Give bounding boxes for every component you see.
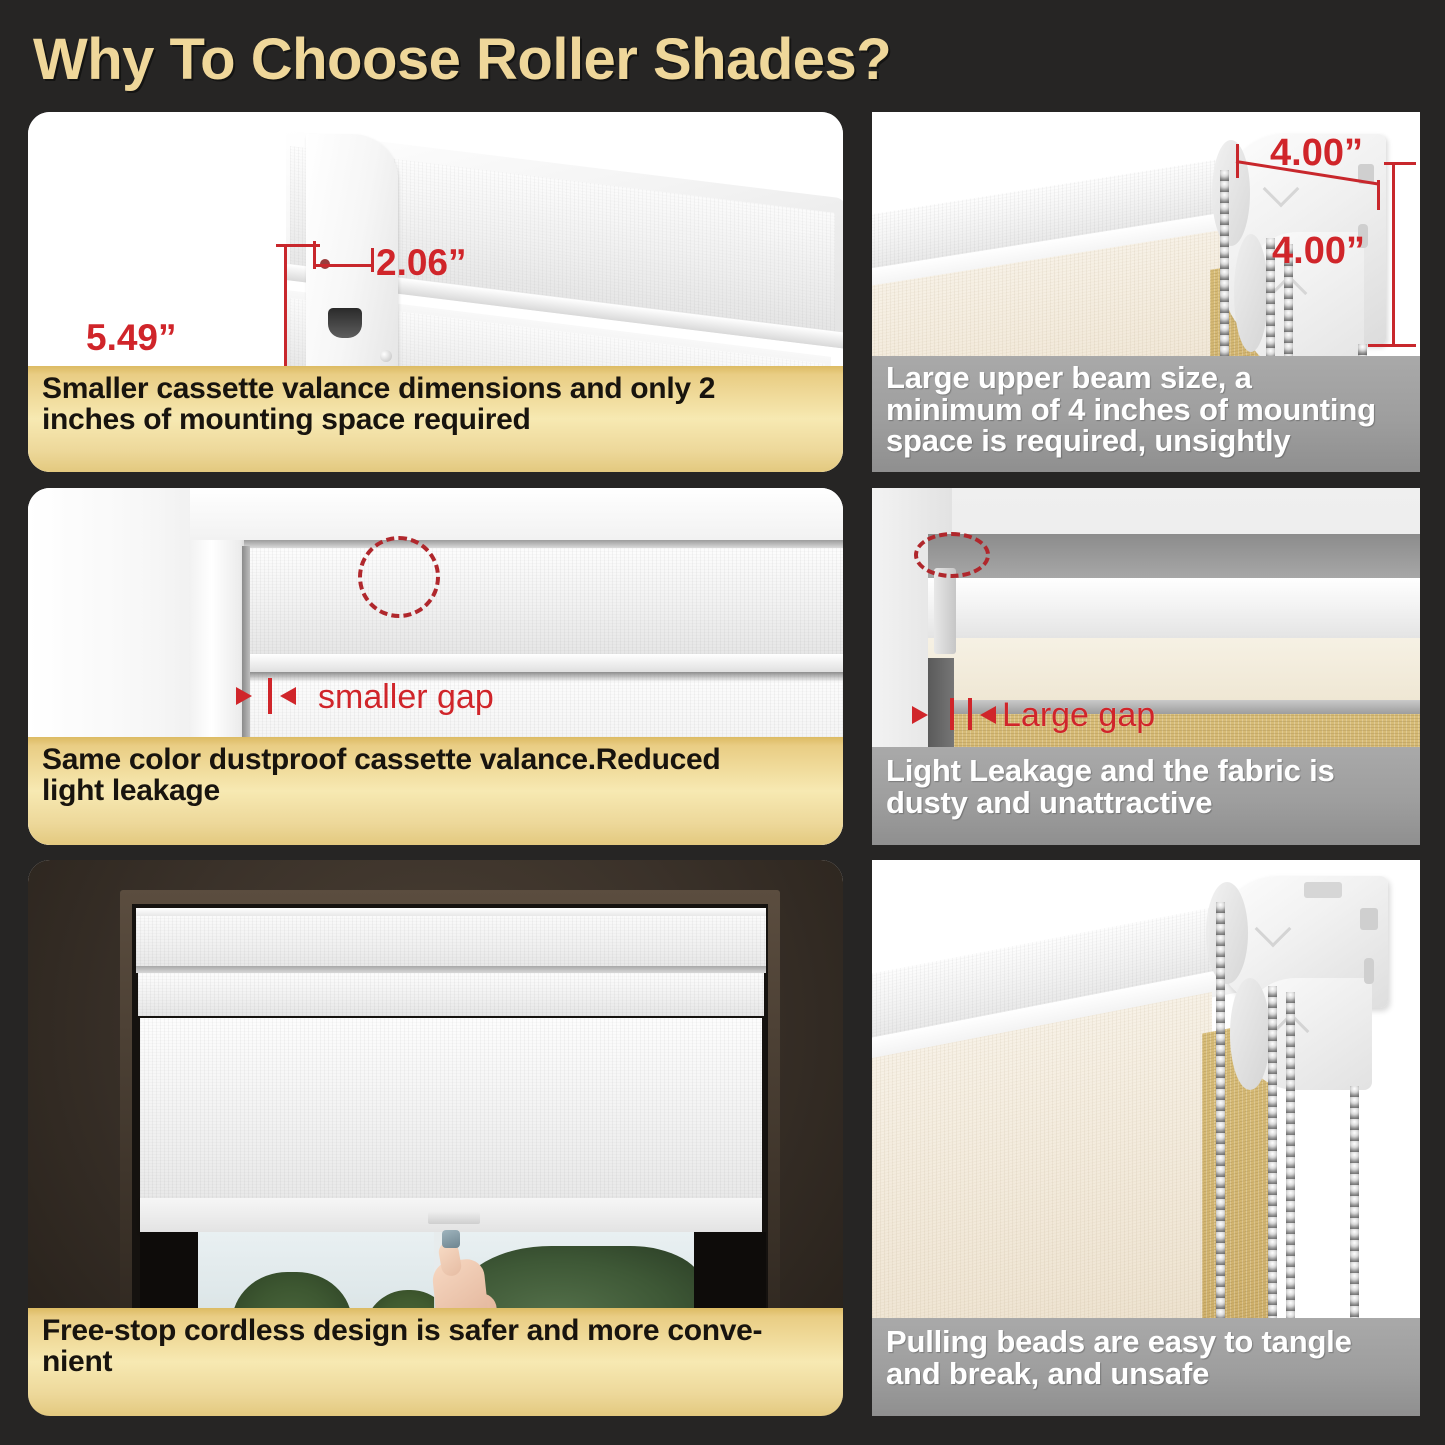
end-cap-screw-mid: [380, 350, 392, 362]
roller-end-disc: [1212, 140, 1250, 246]
valance-separator: [136, 966, 766, 973]
panel-top-right: 4.00” 4.00” Large upper beam size, a min…: [872, 112, 1420, 472]
panel-top-right-caption: Large upper beam size, a minimum of 4 in…: [872, 356, 1420, 472]
gap-highlight-ellipse: [914, 532, 990, 578]
window-frame-top: [190, 488, 843, 540]
caption-line-1: Large upper beam size, a: [886, 362, 1406, 394]
bracket-notch-top: [1304, 882, 1342, 898]
gap-callout-label: Large gap: [1002, 696, 1155, 735]
roller-end-disc-lower: [1234, 234, 1268, 352]
panel-bottom-right-caption: Pulling beads are easy to tangle and bre…: [872, 1318, 1420, 1416]
top-right-height-line: [1392, 162, 1395, 347]
caption-line-2: nient: [42, 1347, 829, 1378]
caption-line-2: light leakage: [42, 776, 829, 807]
valance-lower-roll: [138, 972, 764, 1016]
panel-bottom-right: Pulling beads are easy to tangle and bre…: [872, 860, 1420, 1416]
caption-line-1: Same color dustproof cassette valance.Re…: [42, 745, 829, 776]
valance-top-highlight: [136, 908, 766, 916]
panel-middle-left: smaller gap Same color dustproof cassett…: [28, 488, 843, 845]
gap-marker-bar-1: [950, 698, 954, 730]
gap-marker-bar-2: [968, 698, 972, 730]
valance-face: [928, 578, 1420, 638]
gap-arrow-left: [236, 687, 252, 705]
roller-end-disc: [1206, 882, 1248, 984]
upper-beam-shadow: [928, 534, 1420, 582]
gap-arrow-right: [980, 706, 996, 724]
caption-line-2: minimum of 4 inches of mounting: [886, 394, 1406, 426]
panel-top-left: 2.06” 5.49” Smaller cassette valance dim…: [28, 112, 843, 472]
caption-line-3: space is required, unsightly: [886, 425, 1406, 457]
top-right-height-tick-bottom: [1368, 344, 1416, 347]
gap-arrow-left: [912, 706, 928, 724]
gap-marker-bar: [268, 678, 272, 714]
width-dim-tick-right: [371, 248, 374, 272]
infographic-page: Why To Choose Roller Shades?: [0, 0, 1445, 1445]
caption-line-1: Smaller cassette valance dimensions and …: [42, 374, 829, 405]
panel-top-left-caption: Smaller cassette valance dimensions and …: [28, 366, 843, 472]
top-right-height-label: 4.00”: [1272, 230, 1365, 273]
bottom-rail-tab: [428, 1212, 480, 1224]
width-dimension-label: 2.06”: [376, 242, 467, 284]
caption-line-1: Pulling beads are easy to tangle: [886, 1326, 1406, 1358]
shade-fabric: [140, 1018, 762, 1218]
valance-cream-band: [928, 638, 1420, 700]
bracket-clip: [934, 568, 956, 654]
gap-highlight-ellipse: [358, 536, 440, 618]
roller-end-disc-lower: [1230, 978, 1270, 1090]
bracket-slot-right: [1360, 908, 1378, 930]
cassette-valance: [136, 908, 766, 970]
caption-line-1: Free-stop cordless design is safer and m…: [42, 1316, 829, 1347]
panel-bottom-left-caption: Free-stop cordless design is safer and m…: [28, 1308, 843, 1416]
caption-line-2: inches of mounting space required: [42, 405, 829, 436]
height-dim-tick-top: [276, 244, 320, 247]
caption-line-1: Light Leakage and the fabric is: [886, 755, 1406, 787]
top-right-height-tick-top: [1384, 162, 1416, 165]
caption-line-2: dusty and unattractive: [886, 787, 1406, 819]
height-dimension-label: 5.49”: [86, 317, 177, 359]
panel-bottom-left: Free-stop cordless design is safer and m…: [28, 860, 843, 1416]
cassette-valance-face: [244, 546, 843, 654]
gap-callout-label: smaller gap: [318, 678, 494, 717]
panel-middle-right: Large gap Light Leakage and the fabric i…: [872, 488, 1420, 845]
width-dim-line: [313, 264, 373, 267]
panel-middle-right-caption: Light Leakage and the fabric is dusty an…: [872, 747, 1420, 845]
caption-line-2: and break, and unsafe: [886, 1358, 1406, 1390]
panel-middle-left-caption: Same color dustproof cassette valance.Re…: [28, 737, 843, 845]
top-right-width-label: 4.00”: [1270, 132, 1363, 175]
pull-tab-grip: [442, 1230, 460, 1248]
end-cap-slot-upper: [328, 308, 362, 338]
valance-bottom-lip: [244, 654, 843, 672]
panel-grid: 2.06” 5.49” Smaller cassette valance dim…: [0, 0, 1445, 1445]
valance-top-edge: [244, 540, 843, 548]
bracket-slot-lower: [1364, 958, 1374, 984]
gap-arrow-right: [280, 687, 296, 705]
